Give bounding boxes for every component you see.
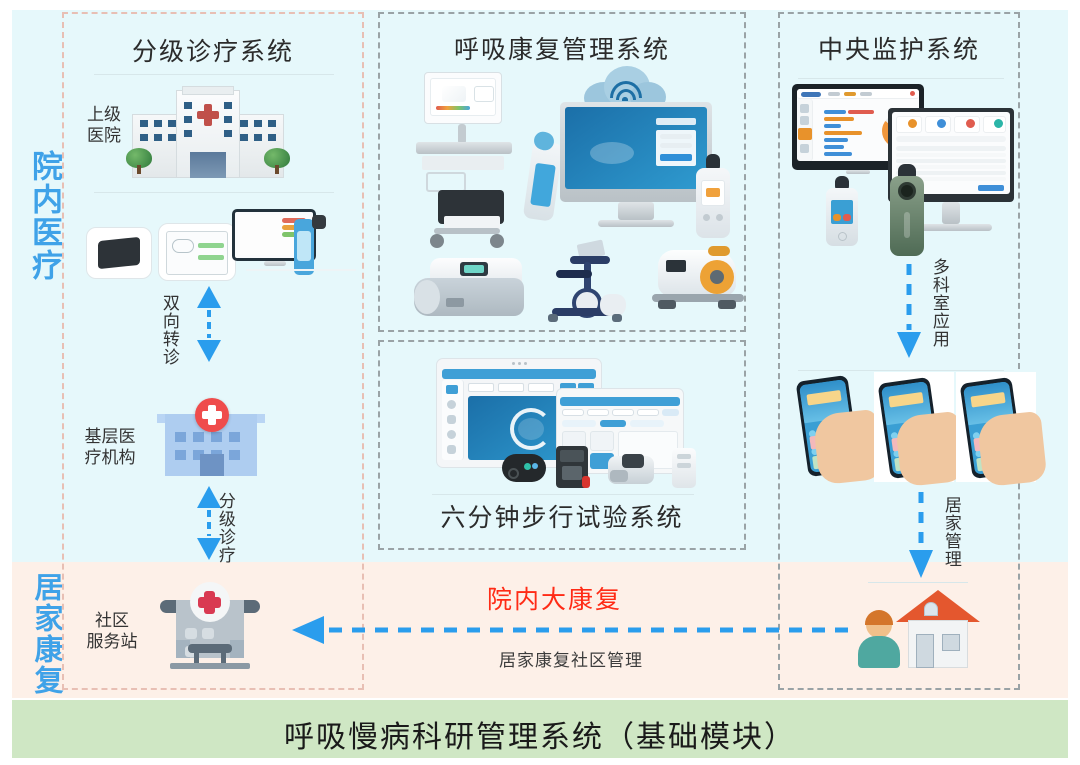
label-line-2: 疗机构 <box>85 448 136 467</box>
label-line-2: 医院 <box>87 126 121 145</box>
device-handheld-terminal <box>556 446 588 490</box>
label-primary-institution: 基层医 疗机构 <box>72 426 148 469</box>
device-cluster-upper <box>86 209 336 284</box>
panel-title-respiratory-rehab: 呼吸康复管理系统 <box>380 30 744 66</box>
device-handheld-monitor <box>696 154 730 240</box>
divider <box>94 74 334 75</box>
device-wearable-recorder <box>502 454 546 484</box>
arrow-community-management <box>272 612 852 648</box>
device-portable-spirometer <box>528 132 562 222</box>
label-line-1: 上级 <box>87 105 121 124</box>
label-line-1: 基层医 <box>85 427 136 446</box>
side-label-in-hospital: 院内医疗 <box>14 150 60 282</box>
bottom-system-title: 呼吸慢病科研管理系统（基础模块） <box>0 712 1080 756</box>
phone-in-hand-2 <box>874 372 954 482</box>
panel-six-minute-walk: 六分钟步行试验系统 <box>378 340 746 550</box>
label-line-2: 服务站 <box>87 632 138 651</box>
community-station-icon <box>162 578 258 670</box>
divider <box>94 192 334 193</box>
device-rehab-ergometer <box>538 242 644 324</box>
panel-title-central-monitoring: 中央监护系统 <box>780 30 1018 66</box>
side-label-home-rehab: 居家康复 <box>14 572 60 696</box>
divider <box>432 494 694 495</box>
diagram-canvas: 院内医疗 居家康复 分级诊疗系统 上级 医院 <box>0 0 1080 765</box>
device-spirometer-green <box>890 164 924 256</box>
phone-in-hand-1 <box>798 376 874 482</box>
panel-tiered-diagnosis: 分级诊疗系统 上级 医院 <box>62 12 364 690</box>
label-in-hospital-major-rehab: 院内大康复 <box>487 580 622 616</box>
device-medical-cart <box>412 72 516 252</box>
label-home-community-management: 居家康复社区管理 <box>499 646 643 671</box>
patient-avatar <box>858 612 900 668</box>
primary-institution-icon <box>157 402 265 476</box>
phone-in-hand-3 <box>956 372 1036 482</box>
panel-title-six-minute-walk: 六分钟步行试验系统 <box>380 498 744 534</box>
device-pedal-exerciser <box>652 246 748 320</box>
label-two-way-referral: 双向转诊 <box>160 294 178 366</box>
device-imac-workstation <box>560 102 712 232</box>
panel-respiratory-rehab: 呼吸康复管理系统 <box>378 12 746 332</box>
device-pulse-oximeter <box>608 450 654 486</box>
label-home-management: 居家管理 <box>942 496 960 568</box>
divider <box>798 78 1004 79</box>
device-spirometer-silver <box>826 176 858 246</box>
device-telemetry-sensor <box>672 448 698 490</box>
panel-title-tiered-diagnosis: 分级诊疗系统 <box>64 32 362 68</box>
arrow-two-way-referral <box>194 286 224 362</box>
upper-hospital-icon <box>132 86 284 178</box>
divider <box>868 582 968 583</box>
label-tiered-diagnosis: 分级诊疗 <box>216 492 234 564</box>
label-line-1: 社区 <box>95 611 129 630</box>
device-respiratory-trainer <box>414 252 526 320</box>
divider <box>798 370 1004 371</box>
arrow-multi-department <box>896 264 922 358</box>
label-community-station: 社区 服务站 <box>74 610 150 653</box>
panel-central-monitoring: 中央监护系统 24人 <box>778 12 1020 690</box>
arrow-home-management <box>908 492 934 578</box>
label-multi-department: 多科室应用 <box>930 258 948 348</box>
label-upper-hospital: 上级 医院 <box>74 104 134 147</box>
